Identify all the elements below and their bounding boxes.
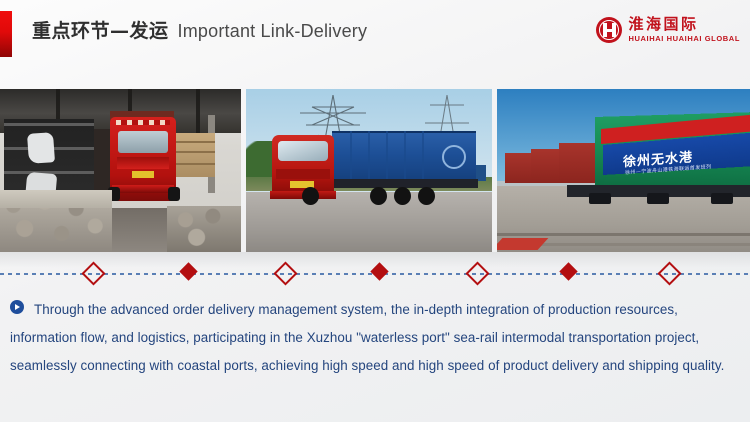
photo-freight-train: 徐州无水港 徐州—宁波舟山港铁海联运首发班列: [497, 89, 750, 252]
logo-name-en: HUAIHAI HUAIHAI GLOBAL: [628, 35, 740, 43]
company-logo: 淮海国际 HUAIHAI HUAIHAI GLOBAL: [596, 12, 740, 48]
timeline-marker: [273, 261, 297, 285]
logo-name-cn: 淮海国际: [628, 17, 740, 32]
page-title-cn: 重点环节—发运: [32, 16, 169, 43]
slide-header: 重点环节—发运 Important Link-Delivery 淮海国际 HUA…: [0, 0, 750, 70]
page-title: 重点环节—发运 Important Link-Delivery: [32, 16, 367, 43]
title-accent-bar: [0, 11, 12, 57]
photo-truck-blue-container: [246, 89, 492, 252]
play-circle-icon: [10, 300, 24, 314]
timeline-marker: [81, 261, 105, 285]
logo-text: 淮海国际 HUAIHAI HUAIHAI GLOBAL: [628, 17, 740, 43]
photo-truck-loading-bay: [0, 89, 241, 252]
diamond-timeline: [0, 262, 750, 286]
photo-strip: 徐州无水港 徐州—宁波舟山港铁海联运首发班列: [0, 89, 750, 252]
timeline-marker: [657, 261, 681, 285]
timeline-marker: [179, 262, 197, 280]
page-title-en: Important Link-Delivery: [178, 21, 368, 42]
timeline-marker: [559, 262, 577, 280]
body-paragraph: Through the advanced order delivery mana…: [0, 296, 750, 380]
body-content: Through the advanced order delivery mana…: [0, 296, 750, 380]
timeline-marker: [370, 262, 388, 280]
huaihai-emblem-icon: [596, 17, 622, 43]
timeline-marker: [465, 261, 489, 285]
